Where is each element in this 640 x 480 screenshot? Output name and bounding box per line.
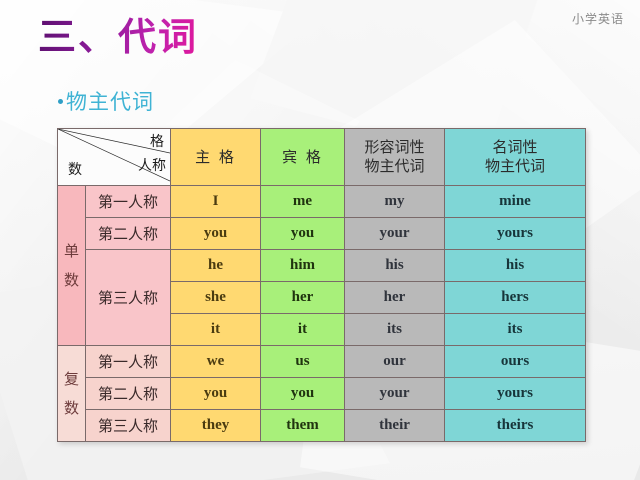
slide-canvas: 小学英语 三、代词 物主代词 格人称数主 格宾 格形容词性物主代词名词性物主代词… (0, 0, 640, 480)
cell-adjective_possessive: your (345, 218, 445, 250)
number-group-cell: 单数 (58, 186, 86, 346)
cell-nominal_possessive: yours (445, 218, 586, 250)
column-header-subjective: 主 格 (171, 129, 261, 186)
cell-subjective: I (171, 186, 261, 218)
cell-objective: me (261, 186, 345, 218)
cell-nominal_possessive: ours (445, 346, 586, 378)
cell-subjective: he (171, 250, 261, 282)
cell-nominal_possessive: mine (445, 186, 586, 218)
person-cell: 第二人称 (86, 218, 171, 250)
cell-nominal_possessive: yours (445, 378, 586, 410)
number-label-line: 数 (58, 394, 85, 423)
cell-adjective_possessive: its (345, 314, 445, 346)
table-row: 复数第一人称weusourours (58, 346, 586, 378)
section-subtitle: 物主代词 (58, 86, 154, 116)
cell-adjective_possessive: our (345, 346, 445, 378)
table-row: 第三人称hehimhishis (58, 250, 586, 282)
bullet-icon (58, 99, 63, 104)
number-label-line: 单 (58, 237, 85, 266)
cell-subjective: it (171, 314, 261, 346)
cell-nominal_possessive: hers (445, 282, 586, 314)
cell-objective: us (261, 346, 345, 378)
person-cell: 第一人称 (86, 346, 171, 378)
cell-adjective_possessive: his (345, 250, 445, 282)
person-cell: 第二人称 (86, 378, 171, 410)
column-header-line: 物主代词 (345, 157, 444, 176)
cell-objective: them (261, 410, 345, 442)
cell-nominal_possessive: theirs (445, 410, 586, 442)
person-cell: 第一人称 (86, 186, 171, 218)
column-header-objective: 宾 格 (261, 129, 345, 186)
possessive-pronoun-table: 格人称数主 格宾 格形容词性物主代词名词性物主代词单数第一人称Imemymine… (57, 128, 586, 442)
cell-nominal_possessive: its (445, 314, 586, 346)
column-header-line: 名词性 (445, 138, 585, 157)
cell-objective: you (261, 378, 345, 410)
cell-subjective: you (171, 218, 261, 250)
column-header-nominal_possessive: 名词性物主代词 (445, 129, 586, 186)
cell-adjective_possessive: your (345, 378, 445, 410)
number-label-line: 复 (58, 365, 85, 394)
cell-objective: him (261, 250, 345, 282)
corner-person-label: 人称 (138, 155, 166, 175)
corner-case-label: 格 (150, 131, 164, 151)
column-header-adjective_possessive: 形容词性物主代词 (345, 129, 445, 186)
table-row: 第二人称youyouyouryours (58, 218, 586, 250)
column-header-line: 物主代词 (445, 157, 585, 176)
table-row: 单数第一人称Imemymine (58, 186, 586, 218)
table-header-row: 格人称数主 格宾 格形容词性物主代词名词性物主代词 (58, 129, 586, 186)
cell-adjective_possessive: her (345, 282, 445, 314)
cell-objective: you (261, 218, 345, 250)
course-label: 小学英语 (572, 10, 624, 27)
column-header-line: 形容词性 (345, 138, 444, 157)
table-row: 第三人称theythemtheirtheirs (58, 410, 586, 442)
cell-adjective_possessive: my (345, 186, 445, 218)
cell-subjective: you (171, 378, 261, 410)
number-group-cell: 复数 (58, 346, 86, 442)
corner-number-label: 数 (68, 159, 82, 179)
section-subtitle-label: 物主代词 (66, 86, 154, 116)
cell-subjective: she (171, 282, 261, 314)
cell-nominal_possessive: his (445, 250, 586, 282)
table-corner-header: 格人称数 (58, 129, 171, 186)
cell-objective: it (261, 314, 345, 346)
page-title: 三、代词 (38, 16, 198, 60)
table-row: 第二人称youyouyouryours (58, 378, 586, 410)
person-cell: 第三人称 (86, 250, 171, 346)
cell-subjective: we (171, 346, 261, 378)
person-cell: 第三人称 (86, 410, 171, 442)
cell-objective: her (261, 282, 345, 314)
cell-subjective: they (171, 410, 261, 442)
number-label-line: 数 (58, 266, 85, 295)
cell-adjective_possessive: their (345, 410, 445, 442)
